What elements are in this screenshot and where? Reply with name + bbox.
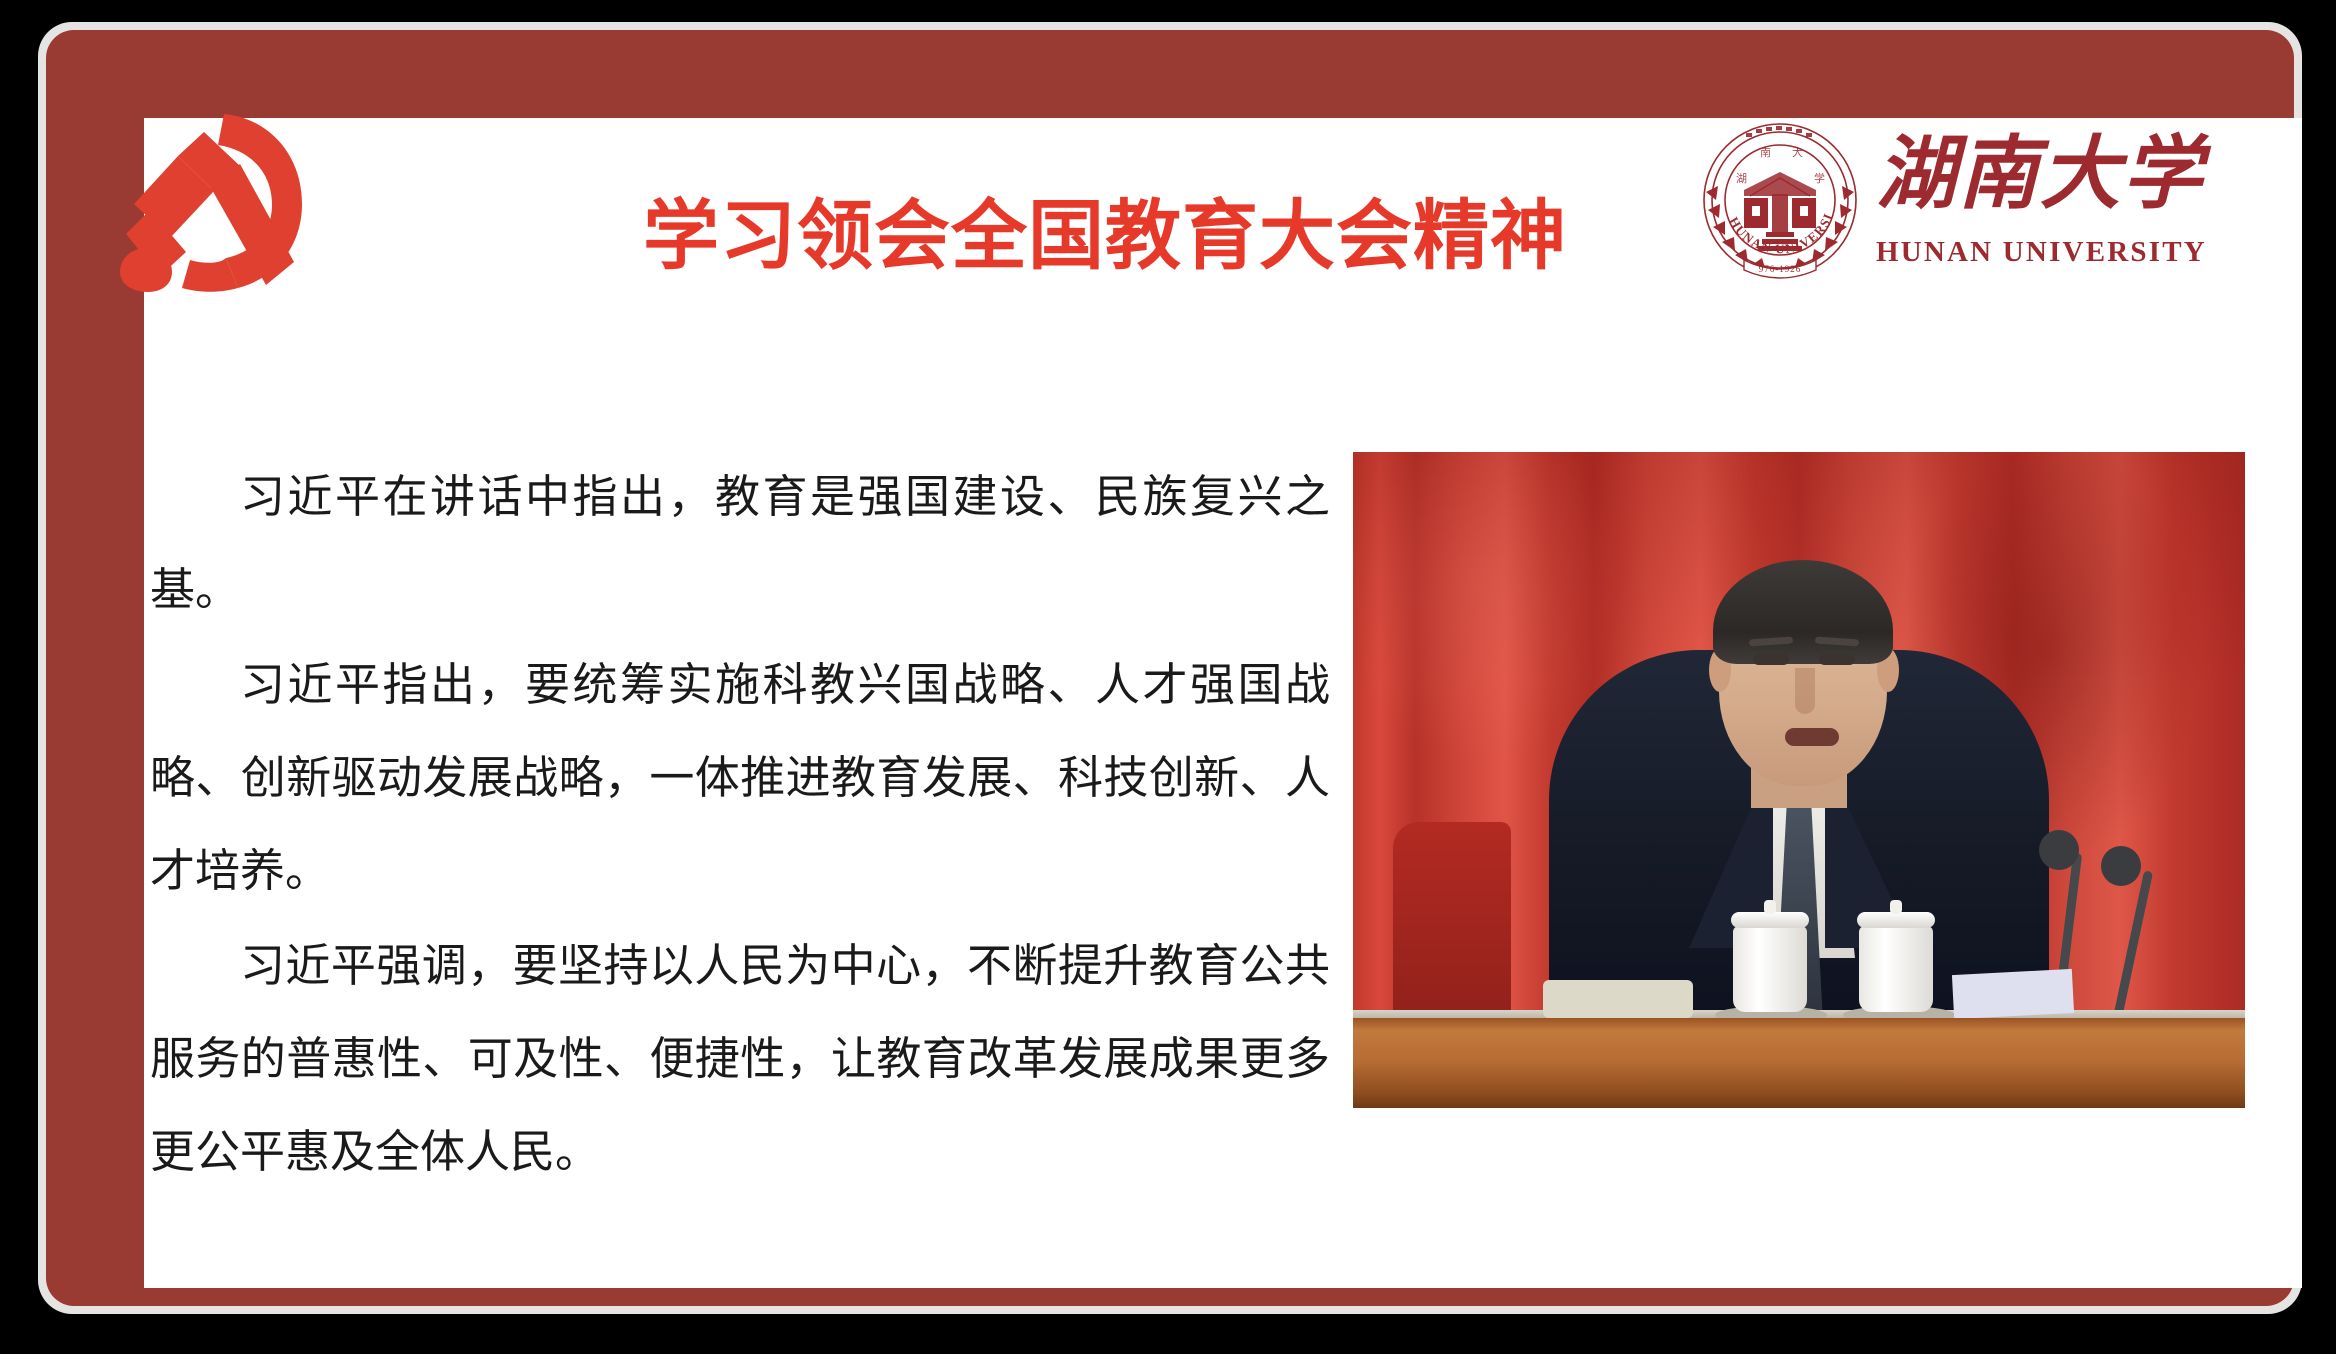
hunan-university-wordmark: 湖南大学 HUNAN UNIVERSITY	[1876, 118, 2160, 286]
photo-teacup-knob-right	[1890, 900, 1902, 914]
hammer-and-sickle-icon	[116, 112, 312, 294]
svg-text:南: 南	[1760, 146, 1771, 159]
university-chinese-name: 湖南大学	[1876, 120, 2160, 228]
photo-microphone-head-left	[2039, 830, 2079, 870]
body-paragraph-1: 习近平在讲话中指出，教育是强国建设、民族复兴之基。	[150, 450, 1330, 636]
svg-text:学: 学	[1814, 171, 1825, 185]
photo-documents	[1952, 969, 2074, 1019]
photo-conference-table	[1353, 1018, 2245, 1108]
photo-speaker-eye-right	[1819, 654, 1855, 665]
photo-microphone-head-right	[2101, 846, 2141, 886]
photo-teacup-right	[1859, 926, 1933, 1012]
photo-teacup-left	[1733, 926, 1807, 1012]
slide-stage: 学习领会全国教育大会精神	[0, 0, 2336, 1354]
university-english-name: HUNAN UNIVERSITY	[1876, 236, 2162, 269]
svg-text:976-1926: 976-1926	[1759, 264, 1802, 274]
page-title: 学习领会全国教育大会精神	[560, 188, 1650, 284]
photo-teacup-lid-right	[1857, 912, 1935, 928]
photo-speaker-nose	[1795, 668, 1815, 714]
body-paragraph-3: 习近平强调，要坚持以人民为中心，不断提升教育公共服务的普惠性、可及性、便捷性，让…	[150, 919, 1330, 1198]
photo-speaker-mouth	[1785, 728, 1839, 746]
body-text-block: 习近平在讲话中指出，教育是强国建设、民族复兴之基。 习近平指出，要统筹实施科教兴…	[150, 450, 1330, 1200]
hunan-university-logo: HUNAN UNIVERSITY 976-1926 南 大 湖 学 湖南大学 H…	[1700, 118, 2160, 288]
photo-speaker-eye-left	[1753, 654, 1789, 665]
svg-text:大: 大	[1792, 145, 1803, 159]
svg-text:湖: 湖	[1736, 172, 1747, 185]
photo-red-chair	[1393, 822, 1511, 1022]
hunan-university-seal-icon: HUNAN UNIVERSITY 976-1926 南 大 湖 学	[1700, 120, 1860, 280]
photo-teacup-knob-left	[1764, 900, 1776, 914]
body-paragraph-2: 习近平指出，要统筹实施科教兴国战略、人才强国战略、创新驱动发展战略，一体推进教育…	[150, 638, 1330, 917]
photo-teacup-lid-left	[1731, 912, 1809, 928]
photo-folded-towel	[1543, 980, 1693, 1018]
speech-photo	[1353, 452, 2245, 1108]
